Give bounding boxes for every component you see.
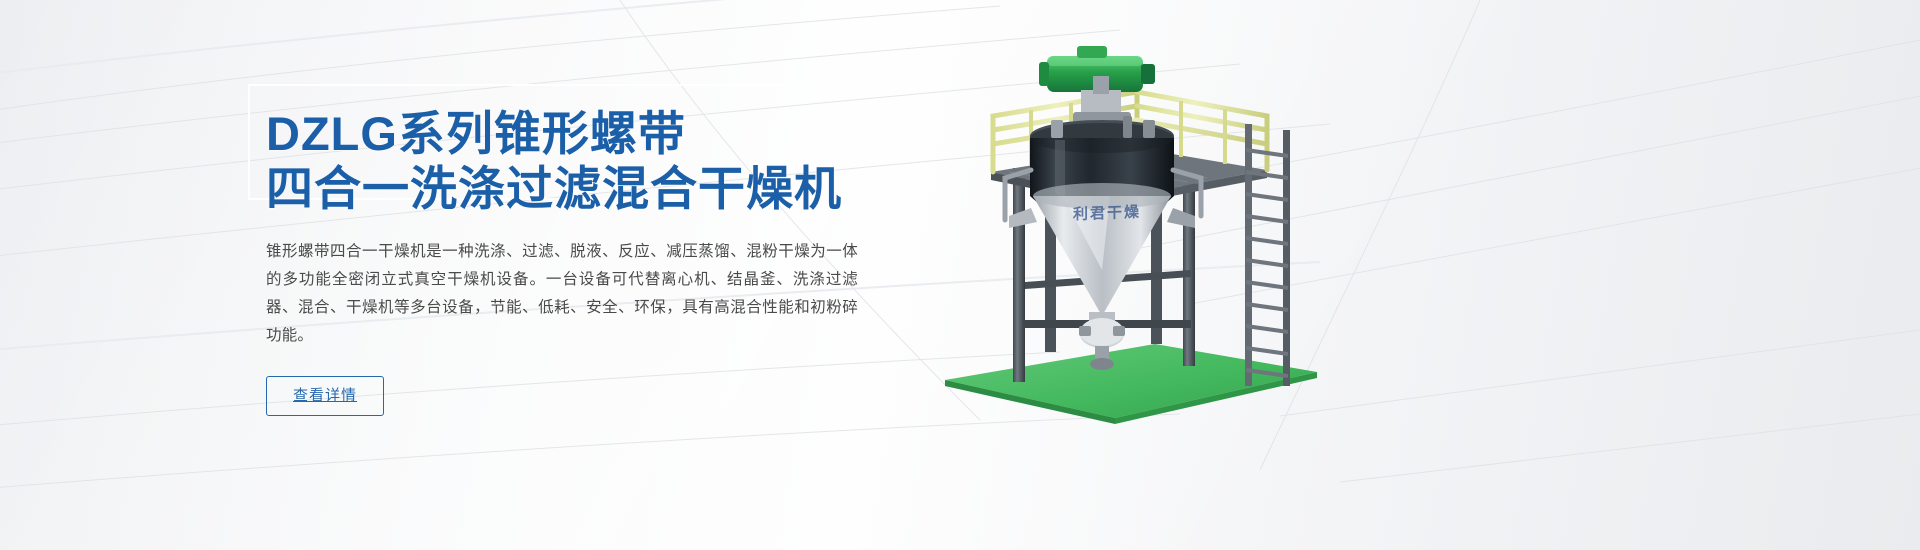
headline-line-2: 四合一洗涤过滤混合干燥机 — [266, 161, 888, 216]
product-description: 锥形螺带四合一干燥机是一种洗涤、过滤、脱液、反应、减压蒸馏、混粉干燥为一体的多功… — [266, 238, 858, 350]
product-image: 利君干燥 — [905, 20, 1385, 440]
hero-copy: DZLG系列锥形螺带 四合一洗涤过滤混合干燥机 锥形螺带四合一干燥机是一种洗涤、… — [248, 84, 888, 416]
image-watermark: 利君干燥 — [1073, 201, 1141, 224]
headline-line-1: DZLG系列锥形螺带 — [266, 107, 686, 160]
dryer-illustration — [905, 20, 1385, 440]
floor-plate — [945, 344, 1317, 424]
page-title: DZLG系列锥形螺带 四合一洗涤过滤混合干燥机 — [248, 84, 888, 216]
view-details-button[interactable]: 查看详情 — [266, 376, 384, 416]
hero-banner: DZLG系列锥形螺带 四合一洗涤过滤混合干燥机 锥形螺带四合一干燥机是一种洗涤、… — [0, 0, 1920, 550]
